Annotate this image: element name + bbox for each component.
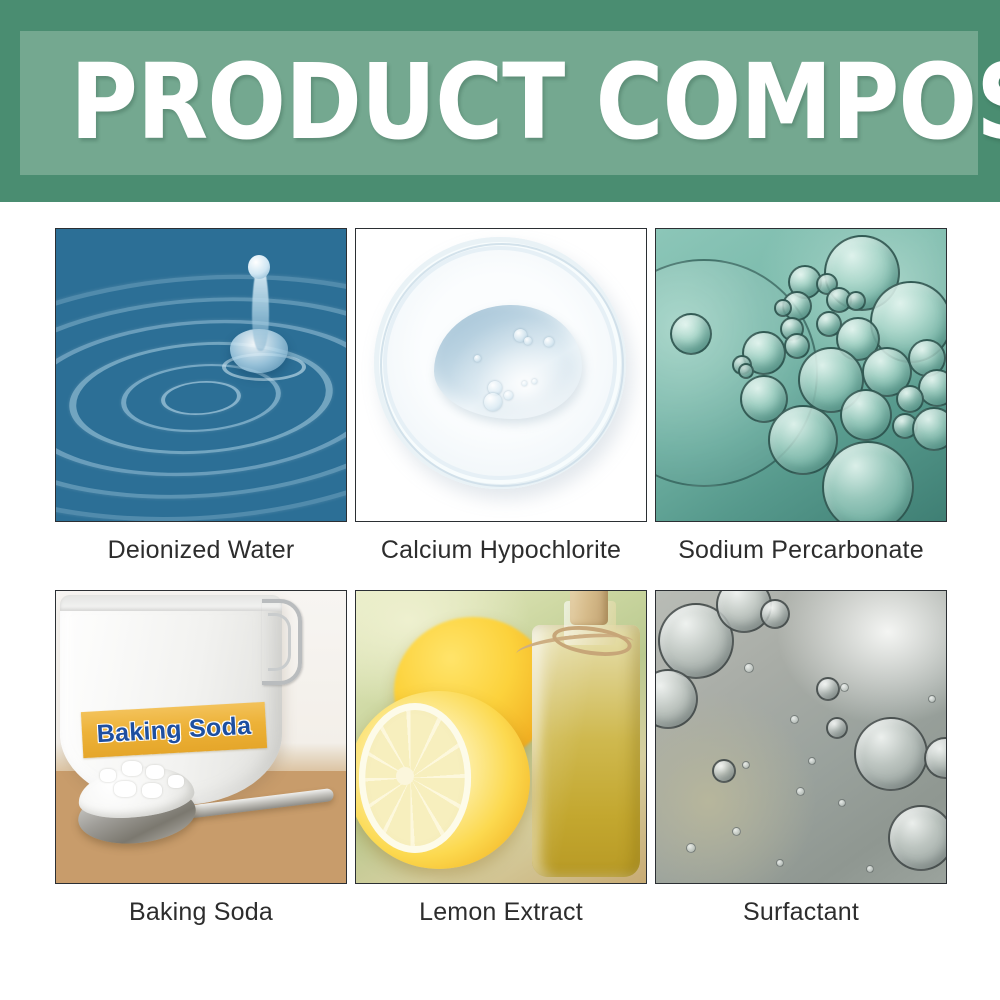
powder-grain bbox=[122, 761, 142, 776]
micro-bubble bbox=[808, 757, 816, 765]
gel-bubble bbox=[532, 379, 537, 384]
page-title: PRODUCT COMPOSITION bbox=[70, 47, 941, 157]
ingredient-card-sodium-percarbonate: Sodium Percarbonate bbox=[655, 228, 947, 565]
micro-bubble bbox=[796, 787, 805, 796]
bubble bbox=[912, 407, 947, 451]
micro-bubble bbox=[732, 827, 741, 836]
ingredient-caption: Calcium Hypochlorite bbox=[355, 536, 647, 565]
lemon-extract-image bbox=[355, 590, 647, 884]
powder-grain bbox=[146, 765, 164, 779]
micro-bubble bbox=[742, 761, 750, 769]
surfactant-bubbles-image bbox=[655, 590, 947, 884]
bubble bbox=[670, 313, 712, 355]
bottle-cork bbox=[570, 590, 608, 625]
micro-bubble bbox=[776, 859, 784, 867]
water-droplet-image bbox=[55, 228, 347, 522]
teal-bubbles-image bbox=[655, 228, 947, 522]
ingredient-caption: Surfactant bbox=[655, 898, 947, 927]
gel-bubble bbox=[474, 355, 481, 362]
micro-bubble bbox=[744, 663, 754, 673]
powder-grain bbox=[114, 781, 136, 797]
bubble bbox=[816, 677, 840, 701]
micro-bubble bbox=[686, 843, 696, 853]
bubble bbox=[840, 389, 892, 441]
powder-grain bbox=[100, 769, 116, 782]
micro-bubble bbox=[790, 715, 799, 724]
ingredient-card-lemon-extract: Lemon Extract bbox=[355, 590, 647, 927]
ingredient-caption: Lemon Extract bbox=[355, 898, 647, 927]
jar-neck bbox=[60, 595, 282, 611]
ingredient-grid: Deionized Water Calcium Hypochlorite bbox=[55, 228, 947, 928]
bubble bbox=[888, 805, 947, 871]
micro-bubble bbox=[840, 683, 849, 692]
gel-dish-image bbox=[355, 228, 647, 522]
lemon-core bbox=[396, 767, 414, 785]
header-band: PRODUCT COMPOSITION bbox=[0, 0, 1000, 202]
oil-bottle bbox=[532, 625, 640, 877]
bubble bbox=[826, 717, 848, 739]
gel-bubble bbox=[544, 337, 554, 347]
powder-grain bbox=[168, 775, 184, 788]
bubble bbox=[760, 599, 790, 629]
micro-bubble bbox=[928, 695, 936, 703]
bubble bbox=[846, 291, 866, 311]
bubble bbox=[774, 299, 792, 317]
ingredient-caption: Deionized Water bbox=[55, 536, 347, 565]
bubble bbox=[738, 363, 754, 379]
jar-clasp-inner bbox=[268, 613, 291, 671]
powder-grain bbox=[142, 783, 162, 798]
ingredient-card-surfactant: Surfactant bbox=[655, 590, 947, 927]
gel-bubble bbox=[484, 393, 502, 411]
ingredient-caption: Sodium Percarbonate bbox=[655, 536, 947, 565]
gel-bubble bbox=[522, 381, 527, 386]
ingredient-caption: Baking Soda bbox=[55, 898, 347, 927]
ingredient-card-deionized-water: Deionized Water bbox=[55, 228, 347, 565]
lemon-flesh bbox=[359, 703, 471, 853]
ingredient-card-calcium-hypochlorite: Calcium Hypochlorite bbox=[355, 228, 647, 565]
micro-bubble bbox=[866, 865, 874, 873]
gel-bubble bbox=[504, 391, 513, 400]
gel-bubble bbox=[524, 337, 532, 345]
droplet-head bbox=[248, 255, 270, 279]
product-composition-infographic: PRODUCT COMPOSITION Deionized Water bbox=[0, 0, 1000, 1000]
baking-soda-jar-image: Baking Soda bbox=[55, 590, 347, 884]
ingredient-card-baking-soda: Baking Soda Baking Soda bbox=[55, 590, 347, 927]
bubble bbox=[712, 759, 736, 783]
bubble bbox=[896, 385, 924, 413]
halved-lemon bbox=[355, 691, 530, 869]
bubble bbox=[854, 717, 928, 791]
bubble bbox=[924, 737, 947, 779]
bubble bbox=[784, 333, 810, 359]
bubble bbox=[822, 441, 914, 522]
micro-bubble bbox=[838, 799, 846, 807]
